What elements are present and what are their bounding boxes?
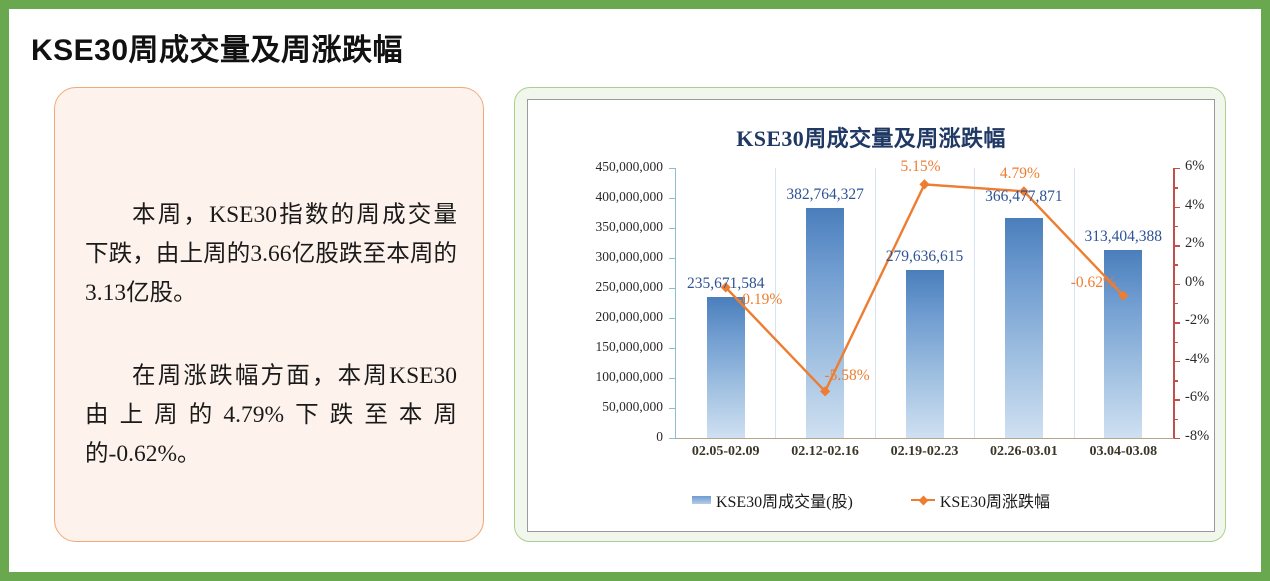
secondary-axis-tick-label: -4% — [1185, 351, 1209, 368]
secondary-axis-minor-tick — [1174, 264, 1178, 265]
secondary-axis-tick — [1174, 361, 1180, 362]
bar-swatch-icon — [692, 496, 711, 504]
chart-legend: KSE30周成交量(股) KSE30周涨跌幅 — [528, 488, 1214, 512]
narrative-box: 本周，KSE30指数的周成交量下跌，由上周的3.66亿股跌至本周的3.13亿股。… — [54, 87, 484, 542]
secondary-axis-tick-label: 4% — [1185, 197, 1204, 214]
secondary-axis-tick-label: 6% — [1185, 158, 1204, 175]
x-axis-tick-label: 02.05-02.09 — [676, 444, 775, 460]
secondary-axis-minor-tick — [1174, 187, 1178, 188]
secondary-axis-tick-label: -6% — [1185, 389, 1209, 406]
slide-page: KSE30周成交量及周涨跌幅 本周，KSE30指数的周成交量下跌，由上周的3.6… — [0, 0, 1270, 581]
secondary-axis-tick — [1174, 284, 1180, 285]
secondary-axis-minor-tick — [1174, 419, 1178, 420]
legend-item-volume[interactable]: KSE30周成交量(股) — [692, 488, 853, 512]
percent-data-label: -5.58% — [787, 367, 907, 385]
x-axis-tick-label: 02.12-02.16 — [775, 444, 874, 460]
secondary-axis-tick — [1174, 207, 1180, 208]
x-axis-labels: 02.05-02.0902.12-02.1602.19-02.2302.26-0… — [676, 444, 1173, 470]
primary-axis-tick-label: 100,000,000 — [538, 369, 663, 385]
bar-data-label: 279,636,615 — [845, 248, 1005, 266]
legend-item-change[interactable]: KSE30周涨跌幅 — [911, 488, 1050, 512]
primary-axis-tick-label: 250,000,000 — [538, 279, 663, 295]
secondary-axis-tick — [1174, 168, 1180, 169]
secondary-axis-minor-tick — [1174, 303, 1178, 304]
primary-axis-tick — [669, 198, 675, 199]
line-diamond-swatch-icon — [911, 495, 935, 505]
percent-data-label: -0.62% — [1033, 274, 1153, 292]
percent-data-label: -0.19% — [700, 291, 820, 309]
primary-axis-tick — [669, 408, 675, 409]
x-axis-tick-label: 02.19-02.23 — [875, 444, 974, 460]
secondary-axis-tick — [1174, 322, 1180, 323]
primary-axis-tick — [669, 438, 675, 439]
primary-axis-tick — [669, 168, 675, 169]
primary-axis-tick-label: 50,000,000 — [538, 399, 663, 415]
primary-axis-tick — [669, 258, 675, 259]
primary-axis-tick-label: 450,000,000 — [538, 159, 663, 175]
narrative-text: 本周，KSE30指数的周成交量下跌，由上周的3.66亿股跌至本周的3.13亿股。… — [85, 196, 457, 474]
x-axis-tick-label: 03.04-03.08 — [1074, 444, 1173, 460]
secondary-axis-minor-tick — [1174, 380, 1178, 381]
secondary-axis-tick-label: -8% — [1185, 428, 1209, 445]
legend-label-change: KSE30周涨跌幅 — [940, 488, 1050, 512]
primary-axis-tick — [669, 348, 675, 349]
primary-axis-tick — [669, 378, 675, 379]
primary-axis-tick — [669, 228, 675, 229]
x-axis-tick-label: 02.26-03.01 — [974, 444, 1073, 460]
line-marker[interactable] — [919, 179, 929, 189]
secondary-axis-tick — [1174, 399, 1180, 400]
x-axis-line — [676, 438, 1174, 439]
legend-label-volume: KSE30周成交量(股) — [716, 488, 853, 512]
narrative-paragraph-1: 本周，KSE30指数的周成交量下跌，由上周的3.66亿股跌至本周的3.13亿股。 — [85, 196, 457, 313]
bar-data-label: 382,764,327 — [745, 186, 905, 204]
chart-title: KSE30周成交量及周涨跌幅 — [528, 121, 1214, 153]
chart-container: KSE30周成交量及周涨跌幅 450,000,000400,000,000350… — [514, 87, 1226, 542]
primary-axis-tick-label: 400,000,000 — [538, 189, 663, 205]
bar-data-label: 313,404,388 — [1043, 228, 1203, 246]
bar-data-label: 235,671,584 — [646, 275, 806, 293]
primary-axis-tick-label: 150,000,000 — [538, 339, 663, 355]
chart-card: KSE30周成交量及周涨跌幅 450,000,000400,000,000350… — [527, 99, 1215, 532]
bar-data-label: 366,477,871 — [944, 188, 1104, 206]
primary-axis-tick — [669, 318, 675, 319]
page-title: KSE30周成交量及周涨跌幅 — [31, 25, 403, 69]
primary-axis-tick-label: 200,000,000 — [538, 309, 663, 325]
primary-axis-tick-label: 300,000,000 — [538, 249, 663, 265]
secondary-axis-tick — [1174, 438, 1180, 439]
secondary-axis-tick-label: -2% — [1185, 312, 1209, 329]
secondary-axis-minor-tick — [1174, 342, 1178, 343]
narrative-paragraph-2: 在周涨跌幅方面，本周KSE30由上周的4.79%下跌至本周的-0.62%。 — [85, 357, 457, 474]
primary-axis-tick-label: 0 — [538, 429, 663, 445]
primary-axis-tick-label: 350,000,000 — [538, 219, 663, 235]
percent-data-label: 4.79% — [960, 165, 1080, 183]
secondary-axis-tick-label: 0% — [1185, 274, 1204, 291]
